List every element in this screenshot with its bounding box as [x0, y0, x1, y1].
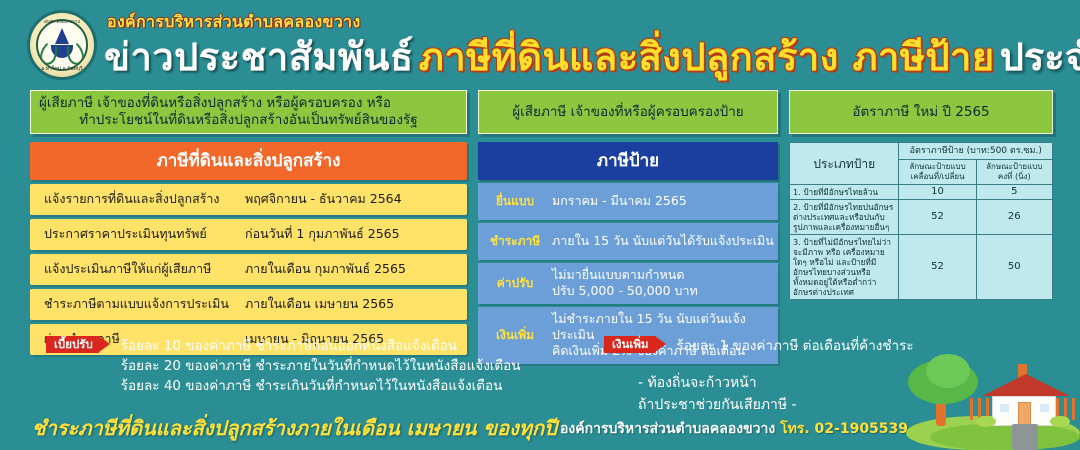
rate-table-col-type: ประเภทป้าย [790, 143, 899, 185]
banner-sign-taxpayer-text: ผู้เสียภาษี เจ้าของที่หรือผู้ครอบครองป้า… [512, 104, 743, 121]
window-left-icon [998, 402, 1011, 414]
penalty-tag: เบี้ยปรับ [46, 336, 99, 353]
land-tax-section: ภาษีที่ดินและสิ่งปลูกสร้าง แจ้งรายการที่… [30, 142, 467, 355]
table-row: 1. ป้ายที่มีอักษรไทยล้วน 10 5 [790, 185, 1053, 200]
rate-row-moving: 52 [899, 235, 976, 300]
rate-row-fixed: 5 [976, 185, 1052, 200]
table-row: แจ้งรายการที่ดินและสิ่งปลูกสร้าง พฤศจิกา… [30, 184, 467, 215]
rate-table-section: ประเภทป้าย อัตราภาษีป้าย (บาท:500 ตร.ซม.… [789, 142, 1053, 300]
rate-row-type: 3. ป้ายที่ไม่มีอักษรไทยไม่ว่าจะมีภาพ หรื… [790, 235, 899, 300]
sign-tax-row-label: ชำระภาษี [478, 232, 552, 251]
path-icon [1012, 424, 1038, 450]
ground-shape-front [930, 424, 1080, 450]
banner-land-taxpayer: ผู้เสียภาษี เจ้าของที่ดินหรือสิ่งปลูกสร้… [30, 90, 467, 134]
bush-left-icon [976, 416, 996, 427]
logo-ring-bottom-text: อ.ท่าใหม่ จ.จันทบุรี [41, 65, 82, 73]
slogan-line: ถ้าประชาช่วยกันเสียภาษี - [638, 394, 797, 416]
bush-right-icon [1050, 416, 1070, 427]
roof-icon [982, 374, 1070, 396]
land-tax-row-label: แจ้งรายการที่ดินและสิ่งปลูกสร้าง [30, 189, 245, 209]
sign-tax-row-value-line: มกราคม - มีนาคม 2565 [552, 193, 778, 209]
rate-table-col-fixed: ลักษณะป้ายแบบคงที่ (นิ่ง) [976, 160, 1052, 185]
rate-row-type: 1. ป้ายที่มีอักษรไทยล้วน [790, 185, 899, 200]
footer-org-name: องค์การบริหารส่วนตำบลคลองขวาง [560, 421, 775, 437]
table-row: ชำระภาษีตามแบบแจ้งการประเมิน ภายในเดือน … [30, 289, 467, 320]
poster: อบต. คลองขวาง อ.ท่าใหม่ จ.จันทบุรี องค์ก… [0, 0, 1080, 450]
sign-tax-row-value-line: ปรับ 5,000 - 50,000 บาท [552, 283, 778, 299]
table-row: 2. ป้ายที่มีอักษรไทยปนอักษรต่างประเทศและ… [790, 200, 1053, 235]
window-right-icon [1038, 402, 1051, 414]
sign-tax-row-value: มกราคม - มีนาคม 2565 [552, 193, 778, 209]
sign-tax-row-value: ไม่มายื่นแบบตามกำหนด ปรับ 5,000 - 50,000… [552, 267, 778, 299]
land-tax-row-value: ภายในเดือน เมษายน 2565 [245, 294, 467, 314]
banner-land-taxpayer-line2: ทำประโยชน์ในที่ดินหรือสิ่งปลูกสร้างอันเป… [39, 112, 458, 129]
footer-organization: องค์การบริหารส่วนตำบลคลองขวาง โทร. 02-19… [560, 418, 908, 440]
rate-row-moving: 52 [899, 200, 976, 235]
sign-tax-row-value-line: ภายใน 15 วัน นับแต่วันได้รับแจ้งประเมิน [552, 233, 778, 249]
land-tax-title: ภาษีที่ดินและสิ่งปลูกสร้าง [30, 142, 467, 180]
penalty-line: ร้อยละ 20 ของค่าภาษี ชำระภายในวันที่กำหน… [121, 356, 521, 376]
penalty-note: เบี้ยปรับ ร้อยละ 10 ของค่าภาษี ชำระภาษีก… [46, 336, 521, 396]
logo-ring-text: อบต. คลองขวาง อ.ท่าใหม่ จ.จันทบุรี [30, 13, 94, 77]
rate-row-type: 2. ป้ายที่มีอักษรไทยปนอักษรต่างประเทศและ… [790, 200, 899, 235]
rate-row-moving: 10 [899, 185, 976, 200]
penalty-line: ร้อยละ 40 ของค่าภาษี ชำระเกินวันที่กำหนด… [121, 376, 521, 396]
surcharge-tag: เงินเพิ่ม [604, 336, 655, 353]
land-tax-row-label: ชำระภาษีตามแบบแจ้งการประเมิน [30, 294, 245, 314]
table-row: แจ้งประเมินภาษีให้แก่ผู้เสียภาษี ภายในเด… [30, 254, 467, 285]
headline: ข่าวประชาสัมพันธ์ ภาษีที่ดินและสิ่งปลูกส… [104, 26, 1080, 87]
headline-tax-types: ภาษีที่ดินและสิ่งปลูกสร้าง ภาษีป้าย [419, 35, 995, 79]
table-row: ยื่นแบบ มกราคม - มีนาคม 2565 [478, 183, 778, 220]
table-row: ค่าปรับ ไม่มายื่นแบบตามกำหนด ปรับ 5,000 … [478, 263, 778, 304]
land-tax-row-label: แจ้งประเมินภาษีให้แก่ผู้เสียภาษี [30, 259, 245, 279]
sign-tax-row-value-line: ไม่มายื่นแบบตามกำหนด [552, 267, 778, 283]
slogan-line: - ท้องถิ่นจะก้าวหน้า [638, 372, 797, 394]
table-row: ประกาศราคาประเมินทุนทรัพย์ ก่อนวันที่ 1 … [30, 219, 467, 250]
header: อบต. คลองขวาง อ.ท่าใหม่ จ.จันทบุรี องค์ก… [0, 0, 1080, 84]
land-tax-row-label: ประกาศราคาประเมินทุนทรัพย์ [30, 224, 245, 244]
banner-land-taxpayer-line1: ผู้เสียภาษี เจ้าของที่ดินหรือสิ่งปลูกสร้… [39, 95, 458, 112]
logo-ring-top-text: อบต. คลองขวาง [44, 18, 80, 26]
municipality-logo: อบต. คลองขวาง อ.ท่าใหม่ จ.จันทบุรี [27, 10, 97, 80]
table-row: 3. ป้ายที่ไม่มีอักษรไทยไม่ว่าจะมีภาพ หรื… [790, 235, 1053, 300]
headline-news-label: ข่าวประชาสัมพันธ์ [104, 35, 414, 79]
footer-phone: โทร. 02-1905539 [780, 421, 908, 437]
banner-new-rate-text: อัตราภาษี ใหม่ ปี 2565 [852, 104, 989, 121]
banner-sign-taxpayer: ผู้เสียภาษี เจ้าของที่หรือผู้ครอบครองป้า… [478, 90, 778, 134]
sign-tax-row-label: ค่าปรับ [478, 274, 552, 293]
rate-table-col-moving: ลักษณะป้ายแบบเคลื่อนที่/เปลี่ยน [899, 160, 976, 185]
surcharge-lines: ร้อยละ 1 ของค่าภาษี ต่อเดือนที่ค้างชำระ [677, 336, 914, 356]
footer-main-message: ชำระภาษีที่ดินและสิ่งปลูกสร้างภายในเดือน… [32, 412, 557, 444]
rate-row-fixed: 26 [976, 200, 1052, 235]
land-tax-row-value: ภายในเดือน กุมภาพันธ์ 2565 [245, 259, 467, 279]
door-icon [1018, 402, 1031, 426]
rate-table-col-group: อัตราภาษีป้าย (บาท:500 ตร.ซม.) [899, 143, 1053, 160]
sign-tax-title: ภาษีป้าย [478, 142, 778, 180]
sign-tax-section: ภาษีป้าย ยื่นแบบ มกราคม - มีนาคม 2565 ชำ… [478, 142, 778, 364]
house-and-tree-illustration [900, 358, 1080, 450]
land-tax-row-value: ก่อนวันที่ 1 กุมภาพันธ์ 2565 [245, 224, 467, 244]
penalty-line: ร้อยละ 10 ของค่าภาษี ชำระภาษีก่อนออกหนัง… [121, 336, 521, 356]
rate-table: ประเภทป้าย อัตราภาษีป้าย (บาท:500 ตร.ซม.… [789, 142, 1053, 300]
rate-table-header-row: ประเภทป้าย อัตราภาษีป้าย (บาท:500 ตร.ซม.… [790, 143, 1053, 160]
slogan: - ท้องถิ่นจะก้าวหน้า ถ้าประชาช่วยกันเสีย… [638, 372, 797, 416]
tree-foliage-highlight-icon [926, 354, 970, 388]
rate-row-fixed: 50 [976, 235, 1052, 300]
headline-year-label: ประจำปี [1000, 35, 1080, 79]
surcharge-note: เงินเพิ่ม ร้อยละ 1 ของค่าภาษี ต่อเดือนที… [604, 336, 914, 356]
sign-tax-row-value: ภายใน 15 วัน นับแต่วันได้รับแจ้งประเมิน [552, 233, 778, 249]
surcharge-line: ร้อยละ 1 ของค่าภาษี ต่อเดือนที่ค้างชำระ [677, 336, 914, 356]
land-tax-row-value: พฤศจิกายน - ธันวาคม 2564 [245, 189, 467, 209]
penalty-lines: ร้อยละ 10 ของค่าภาษี ชำระภาษีก่อนออกหนัง… [121, 336, 521, 396]
table-row: ชำระภาษี ภายใน 15 วัน นับแต่วันได้รับแจ้… [478, 223, 778, 260]
sign-tax-row-label: ยื่นแบบ [478, 192, 552, 211]
banner-new-rate: อัตราภาษี ใหม่ ปี 2565 [789, 90, 1053, 134]
